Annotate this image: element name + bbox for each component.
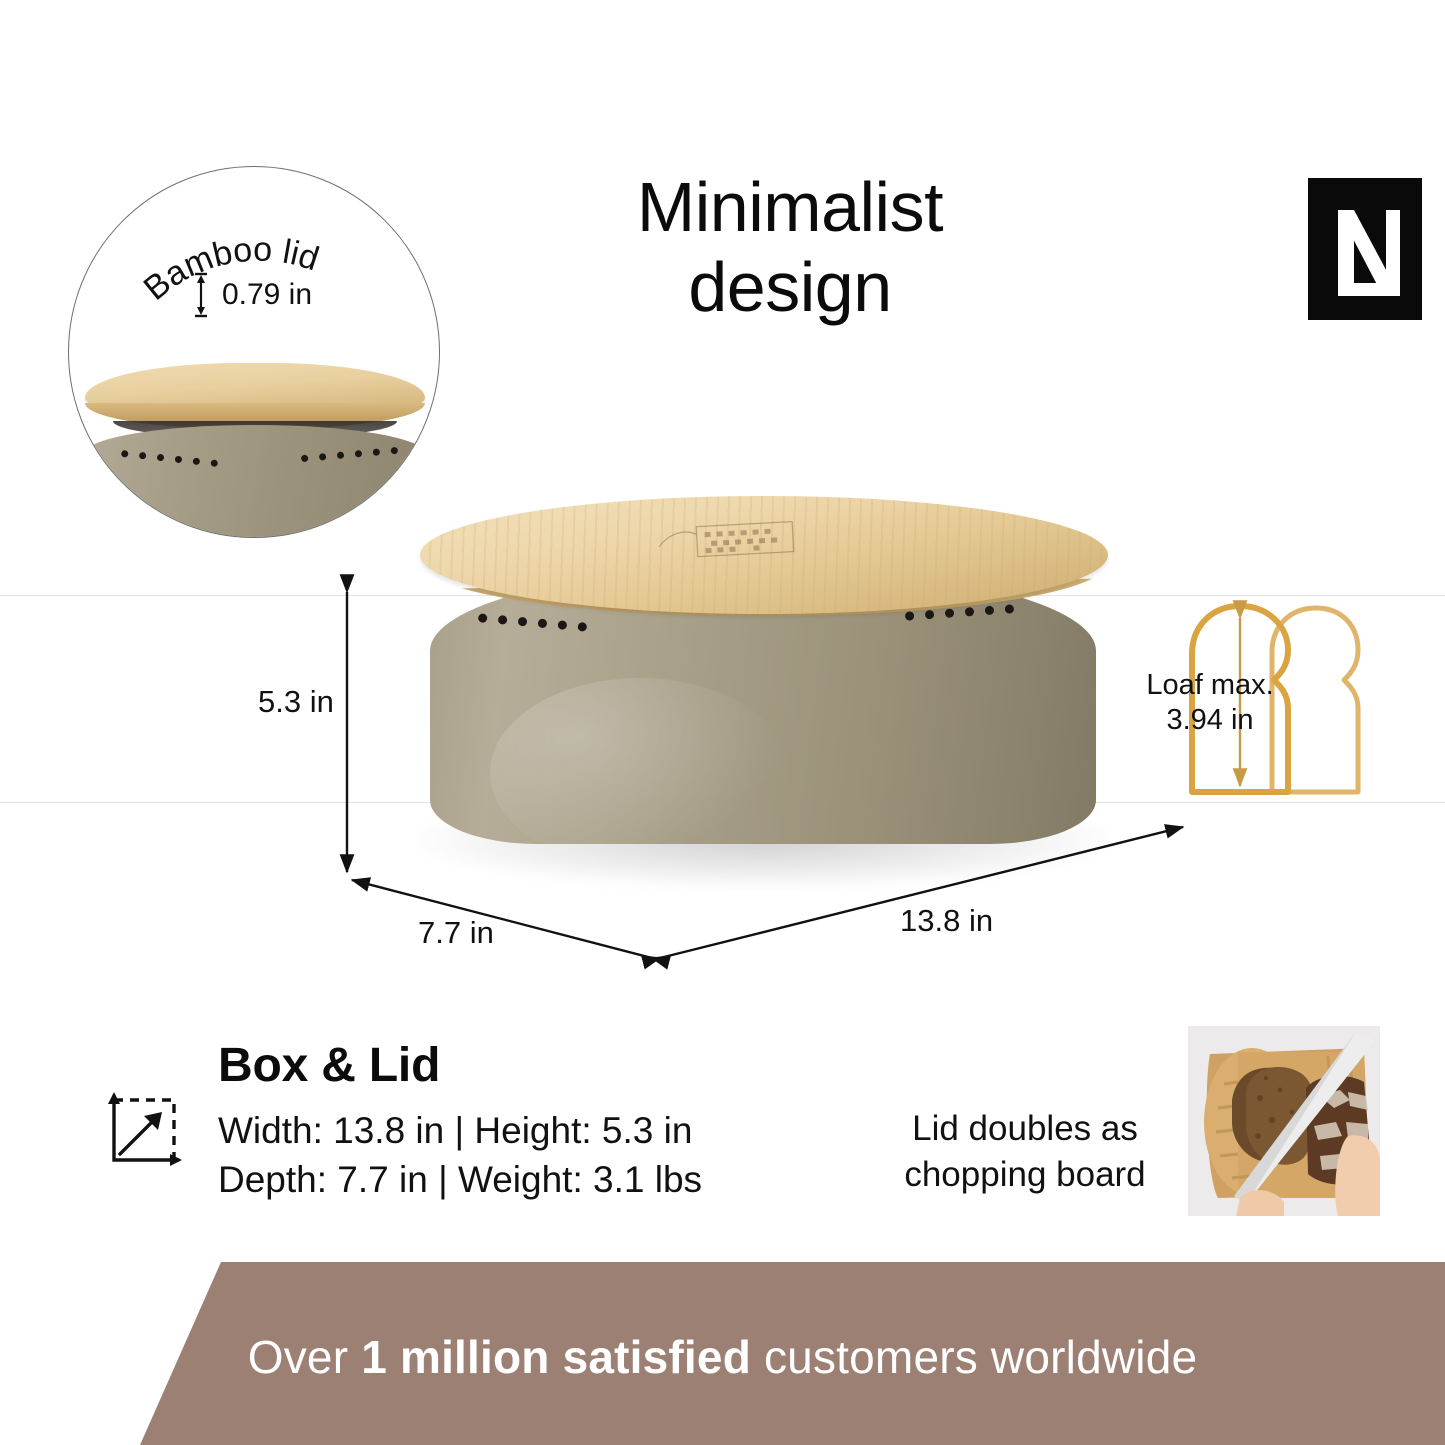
banner-emphasis: 1 million satisfied xyxy=(361,1331,751,1383)
spec-line-1: Width: 13.8 in | Height: 5.3 in xyxy=(218,1106,702,1155)
loaf-label-line-2: 3.94 in xyxy=(1130,703,1290,738)
bamboo-lid-inset: Bamboo lid xyxy=(68,166,440,538)
inset-product-art xyxy=(68,363,440,538)
bread-on-cutting-board-photo xyxy=(1188,1026,1380,1216)
page-title-line-1: Minimalist xyxy=(637,168,943,246)
spec-details: Width: 13.8 in | Height: 5.3 in Depth: 7… xyxy=(218,1106,702,1204)
page-title-line-2: design xyxy=(520,248,1060,328)
depth-dimension-label: 7.7 in xyxy=(418,915,494,951)
body-highlight xyxy=(490,678,790,868)
inset-measure-value: 0.79 in xyxy=(222,278,312,312)
page-title: Minimalist design xyxy=(520,168,1060,328)
product-illustration xyxy=(400,492,1120,892)
n-monogram-logo-icon xyxy=(1308,178,1422,320)
infographic-canvas: Minimalist design Bamboo lid xyxy=(0,0,1445,1445)
chopping-board-caption: Lid doubles as chopping board xyxy=(880,1106,1170,1197)
height-dimension-label: 5.3 in xyxy=(258,684,334,720)
loaf-label-line-1: Loaf max. xyxy=(1130,668,1290,703)
loaf-max-label: Loaf max. 3.94 in xyxy=(1130,668,1290,738)
chopping-board-caption-line-1: Lid doubles as xyxy=(880,1106,1170,1152)
spec-section-title: Box & Lid xyxy=(218,1038,440,1093)
chopping-board-caption-line-2: chopping board xyxy=(880,1152,1170,1198)
brand-logo xyxy=(1308,178,1422,320)
banner-prefix: Over xyxy=(248,1331,361,1383)
width-dimension-label: 13.8 in xyxy=(900,903,993,939)
dimensions-icon xyxy=(100,1088,186,1174)
inset-measurement: 0.79 in xyxy=(68,272,438,318)
bottom-banner-text: Over 1 million satisfied customers world… xyxy=(0,1330,1445,1384)
inset-box-body xyxy=(85,425,425,538)
height-measure-icon xyxy=(194,272,208,318)
spec-line-2: Depth: 7.7 in | Weight: 3.1 lbs xyxy=(218,1155,702,1204)
banner-suffix: customers worldwide xyxy=(751,1331,1197,1383)
